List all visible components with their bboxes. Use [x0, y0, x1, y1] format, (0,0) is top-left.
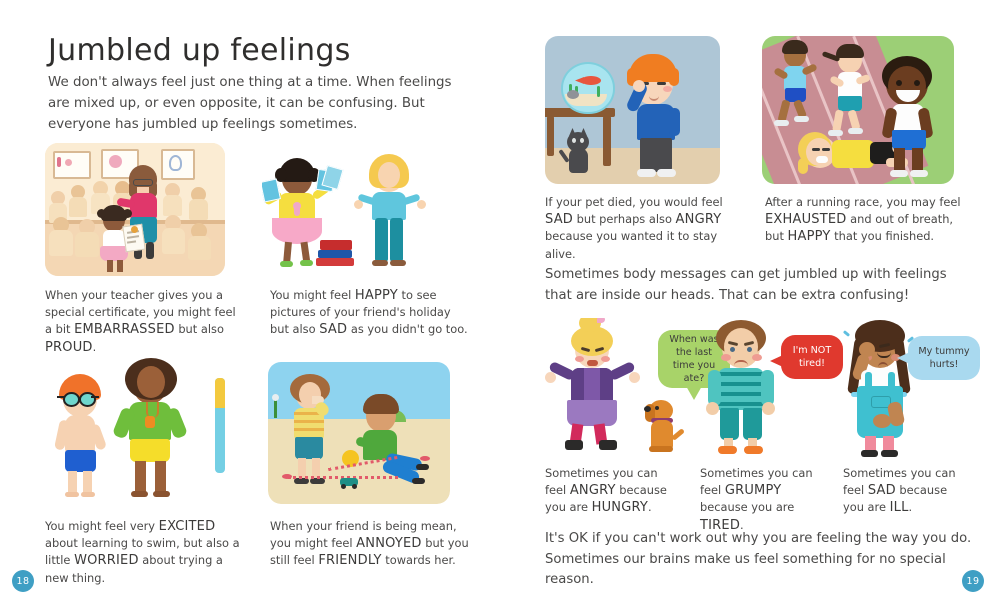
caption-classroom-certificate: When your teacher gives you a special ce… — [45, 287, 245, 356]
caption-end: . — [909, 500, 913, 514]
caption-end: towards her. — [382, 553, 456, 567]
caption-emphasis-happy: HAPPY — [355, 288, 398, 303]
caption-end: . — [648, 500, 652, 514]
caption-ill-sad: Sometimes you can feel SAD because you a… — [843, 465, 971, 517]
caption-emphasis-ill: ILL — [890, 500, 909, 515]
caption-emphasis-happy: HAPPY — [788, 229, 831, 244]
caption-friend-being-mean: When your friend is being mean, you migh… — [270, 518, 475, 570]
caption-pre: After a running race, you may feel — [765, 195, 961, 209]
caption-mid: but perhaps also — [573, 212, 676, 226]
mid-paragraph: Sometimes body messages can get jumbled … — [545, 265, 965, 306]
caption-pre: You might feel — [270, 288, 355, 302]
caption-emphasis-hungry: HUNGRY — [592, 500, 648, 515]
speech-bubble-ill: My tummy hurts! — [908, 336, 980, 380]
caption-emphasis-angry: ANGRY — [676, 212, 722, 227]
closing-paragraph: It's OK if you can't work out why you ar… — [545, 529, 975, 591]
caption-mid: but also — [175, 322, 224, 336]
caption-pre: You might feel very — [45, 519, 159, 533]
bubble-tail — [897, 352, 910, 364]
speech-bubble-text: I'm NOT tired! — [788, 344, 836, 370]
left-page: Jumbled up feelings We don't always feel… — [0, 0, 500, 604]
caption-hungry-angry: Sometimes you can feel ANGRY because you… — [545, 465, 673, 517]
caption-emphasis-friendly: FRIENDLY — [318, 553, 381, 568]
caption-emphasis-embarrassed: EMBARRASSED — [74, 322, 175, 337]
caption-emphasis-sad: SAD — [319, 322, 347, 337]
caption-running-race: After a running race, you may feel EXHAU… — [765, 194, 965, 246]
caption-end: because you wanted it to stay alive. — [545, 229, 717, 260]
illustration-friend-being-mean — [268, 362, 450, 504]
illustration-pet-died — [545, 36, 720, 184]
speech-bubble-text: My tummy hurts! — [915, 345, 973, 371]
caption-learning-to-swim: You might feel very EXCITED about learni… — [45, 518, 245, 587]
caption-emphasis-angry: ANGRY — [570, 483, 616, 498]
bubble-tail — [770, 355, 783, 367]
page-title: Jumbled up feelings — [48, 34, 351, 68]
caption-emphasis-excited: EXCITED — [159, 519, 216, 534]
page-number-left: 18 — [12, 570, 34, 592]
caption-emphasis-annoyed: ANNOYED — [356, 536, 421, 551]
caption-pre: If your pet died, you would feel — [545, 195, 723, 209]
illustration-classroom-certificate — [45, 143, 225, 276]
caption-emphasis-exhausted: EXHAUSTED — [765, 212, 847, 227]
caption-tired-grumpy: Sometimes you can feel GRUMPY because yo… — [700, 465, 828, 534]
caption-mid: because you are — [700, 500, 794, 514]
caption-emphasis-sad: SAD — [545, 212, 573, 227]
right-page: If your pet died, you would feel SAD but… — [500, 0, 1000, 604]
caption-holiday-photos: You might feel HAPPY to see pictures of … — [270, 287, 470, 339]
page-number-right: 19 — [962, 570, 984, 592]
intro-paragraph: We don't always feel just one thing at a… — [48, 72, 453, 135]
illustration-running-race — [762, 36, 954, 184]
caption-emphasis-sad: SAD — [868, 483, 896, 498]
caption-end: as you didn't go too. — [347, 322, 467, 336]
book-spread: Jumbled up feelings We don't always feel… — [0, 0, 1000, 604]
speech-bubble-tired: I'm NOT tired! — [781, 335, 843, 379]
caption-end: that you finished. — [831, 229, 935, 243]
caption-emphasis-worried: WORRIED — [74, 553, 139, 568]
illustration-learning-to-swim — [45, 358, 230, 513]
caption-emphasis-proud: PROUD — [45, 340, 93, 355]
illustration-holiday-photos — [262, 150, 452, 276]
caption-emphasis-grumpy: GRUMPY — [725, 483, 782, 498]
caption-end: . — [93, 340, 97, 354]
caption-pet-died: If your pet died, you would feel SAD but… — [545, 194, 745, 263]
